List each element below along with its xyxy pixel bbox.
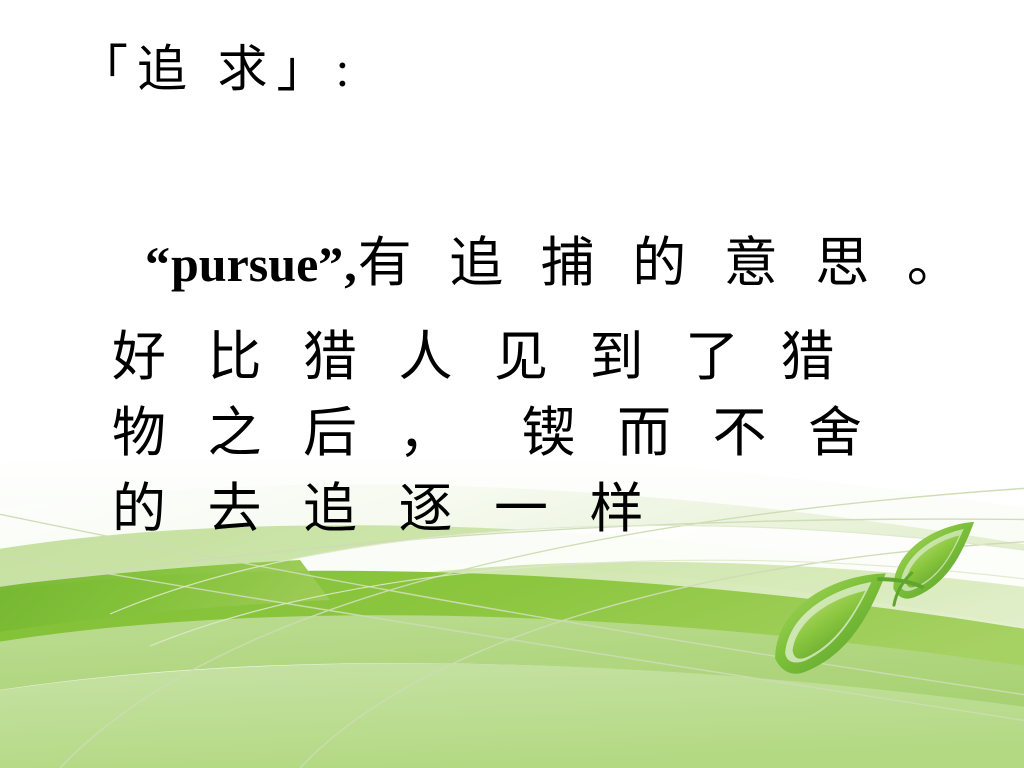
body-line-1: 好 比 猎 人 见 到 了 猎 [112, 330, 849, 384]
english-term: pursue [171, 236, 318, 292]
definition-line: “pursue”,有 追 捕 的 意 思 。 [58, 182, 973, 344]
slide-text-block: 「追 求」: “pursue”,有 追 捕 的 意 思 。 好 比 猎 人 见 … [0, 0, 1024, 768]
body-line-2: 物 之 后 ， 锲 而 不 舍 [112, 406, 876, 460]
title-line: 「追 求」: [78, 44, 358, 94]
chinese-gloss: 有 追 捕 的 意 思 。 [358, 233, 973, 293]
comma: , [344, 236, 358, 292]
slide-canvas: 「追 求」: “pursue”,有 追 捕 的 意 思 。 好 比 猎 人 见 … [0, 0, 1024, 768]
open-quote: “ [145, 236, 171, 292]
body-line-3: 的 去 追 逐 一 样 [112, 482, 658, 536]
close-quote: ” [318, 236, 344, 292]
